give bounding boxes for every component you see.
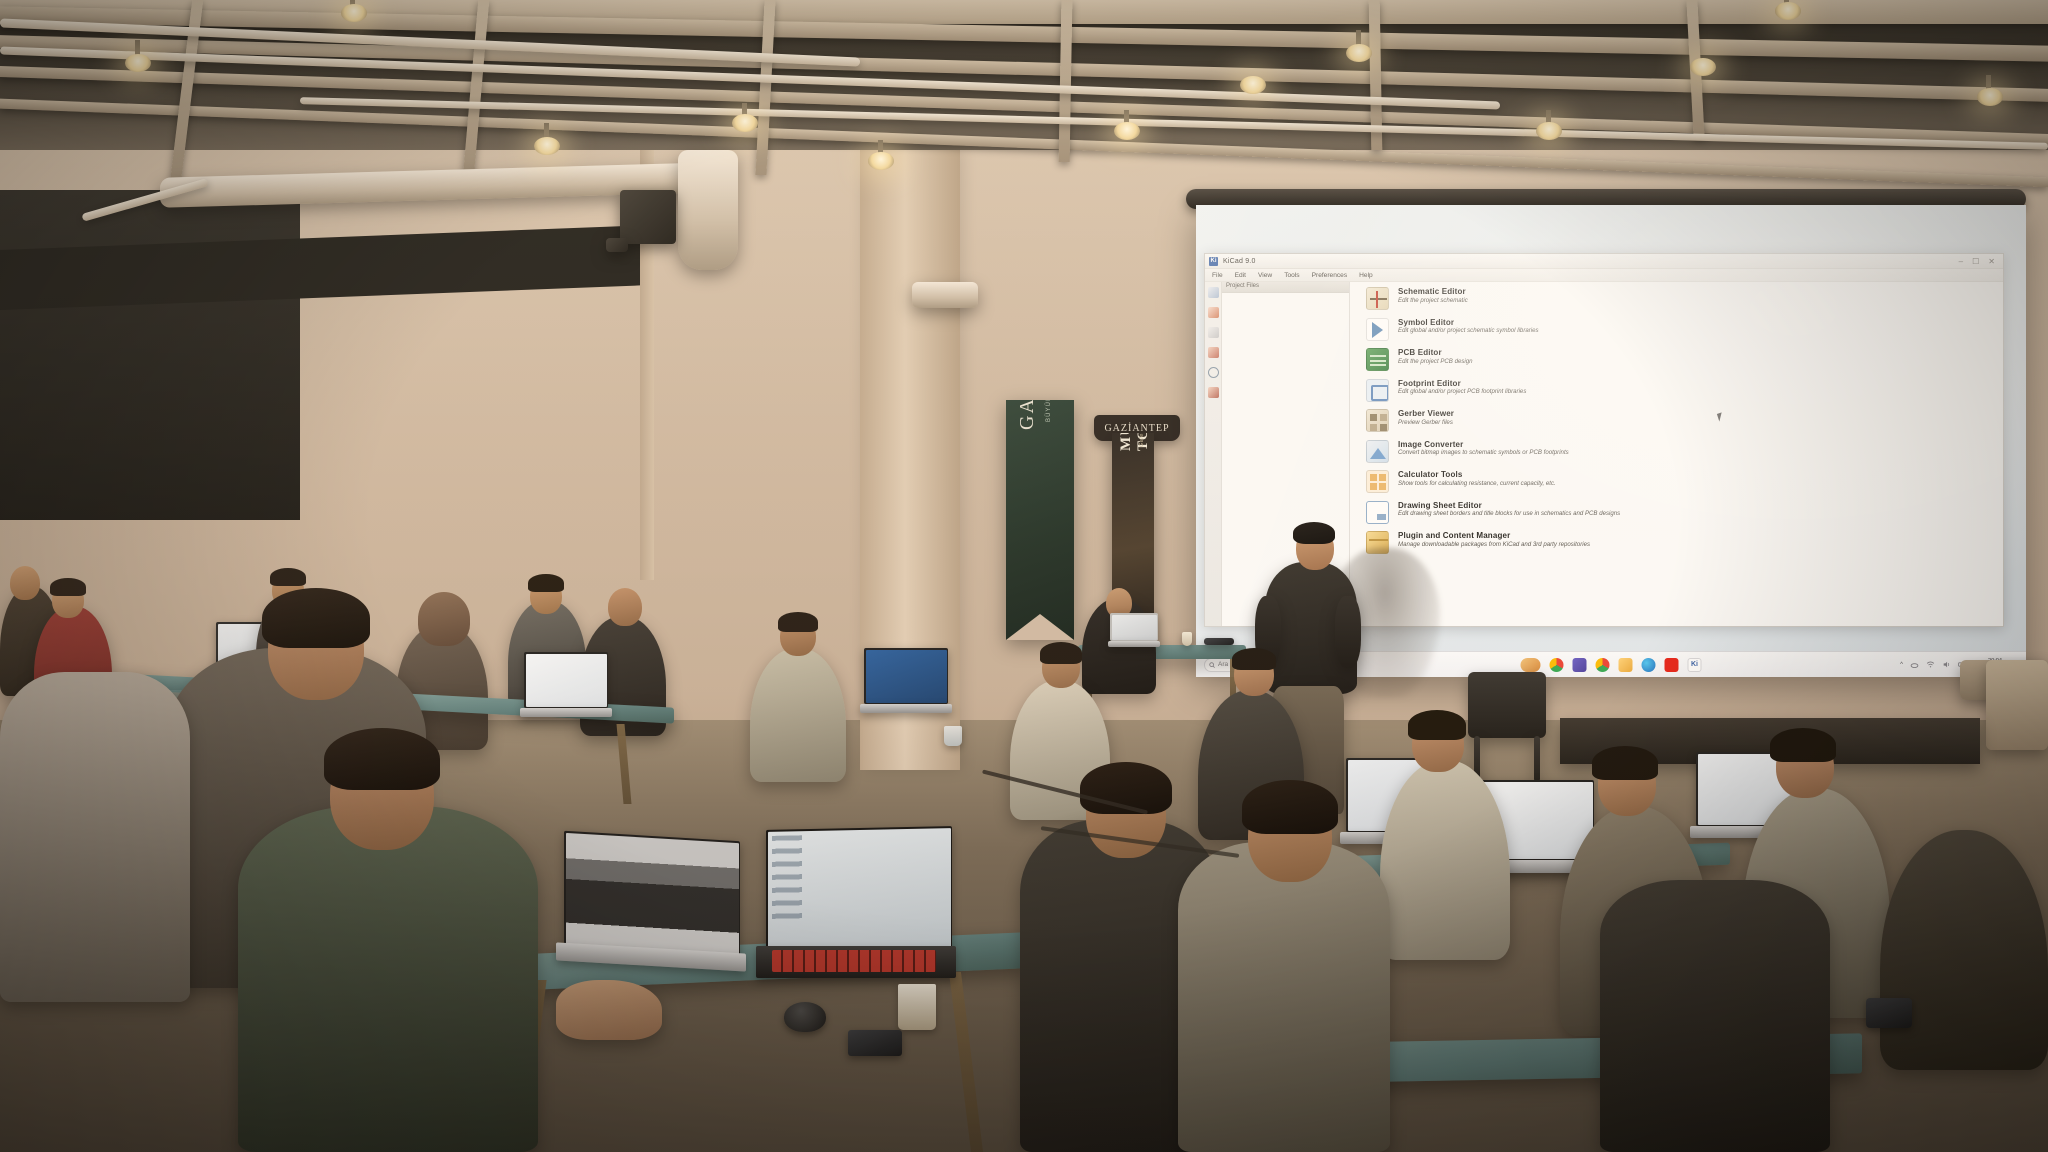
search-placeholder: Ara <box>1218 661 1228 668</box>
launcher-desc: Edit drawing sheet borders and title blo… <box>1398 511 1620 517</box>
pcb-editor-icon <box>1366 348 1389 371</box>
launcher-item-schematic-editor[interactable]: Schematic Editor Edit the project schema… <box>1366 287 2003 310</box>
foreground-laptop-msi <box>756 828 956 988</box>
search-icon <box>1209 662 1215 668</box>
audience-laptop <box>520 652 612 720</box>
banner-gaziantep-title: GAZİANTEP <box>1016 400 1039 430</box>
wifi-icon[interactable] <box>1926 660 1935 669</box>
drawing-sheet-editor-icon <box>1366 501 1389 524</box>
launcher-item-calculator-tools[interactable]: Calculator Tools Show tools for calculat… <box>1366 470 2003 493</box>
wall-speaker-mount <box>606 238 628 252</box>
kicad-titlebar: Ki KiCad 9.0 – ☐ ✕ <box>1205 254 2003 269</box>
water-glass <box>944 726 962 746</box>
ceiling-spotlight <box>1977 88 2003 106</box>
maximize-icon[interactable]: ☐ <box>1972 257 1979 266</box>
keyboard-backlight-red <box>772 950 936 972</box>
laptop-screen <box>866 650 947 703</box>
launcher-desc: Convert bitmap images to schematic symbo… <box>1398 450 1569 456</box>
presenter-arm-right <box>1335 596 1361 668</box>
foreground-attendee-hair <box>324 728 440 790</box>
banner-muhendislik-subtitle: Geleceği Birlikte Tasarlıyoruz <box>1139 433 1145 447</box>
launcher-desc: Manage downloadable packages from KiCad … <box>1398 542 1590 548</box>
chrome-icon[interactable] <box>1550 658 1564 672</box>
ceiling-spotlight <box>534 137 560 155</box>
launcher-title: Image Converter <box>1398 441 1569 449</box>
menu-edit[interactable]: Edit <box>1235 272 1246 279</box>
onedrive-icon[interactable] <box>1910 660 1919 669</box>
launcher-desc: Edit global and/or project PCB footprint… <box>1398 389 1526 395</box>
launcher-title: Gerber Viewer <box>1398 410 1454 418</box>
launcher-title: Symbol Editor <box>1398 319 1539 327</box>
menu-view[interactable]: View <box>1258 272 1272 279</box>
chevron-up-icon[interactable]: ^ <box>1900 662 1903 668</box>
foreground-attendee-hair <box>262 588 370 648</box>
presenter-hair <box>1293 522 1335 544</box>
ceiling-spotlight <box>1346 44 1372 62</box>
ceiling-spotlight <box>1536 122 1562 140</box>
youtube-icon[interactable] <box>1665 658 1679 672</box>
close-icon[interactable]: ✕ <box>1988 257 1995 266</box>
attendee-hair <box>1040 642 1082 664</box>
minimize-icon[interactable]: – <box>1959 257 1963 266</box>
attendee-head <box>608 588 642 626</box>
ceiling-spotlight <box>1775 2 1801 20</box>
menu-file[interactable]: File <box>1212 272 1223 279</box>
ceiling-duct-elbow <box>678 150 738 270</box>
kicad-menubar[interactable]: File Edit View Tools Preferences Help <box>1205 269 2003 282</box>
ceiling-spotlight <box>1690 58 1716 76</box>
launcher-desc: Show tools for calculating resistance, c… <box>1398 481 1556 487</box>
host-laptop-screen <box>1112 615 1157 640</box>
laptop-screen-bw-photo <box>566 832 739 957</box>
edge-icon[interactable] <box>1642 658 1656 672</box>
host-laptop-base <box>1108 641 1160 647</box>
foreground-attendee <box>1178 842 1390 1152</box>
teams-icon[interactable] <box>1573 658 1587 672</box>
file-explorer-icon[interactable] <box>1619 658 1633 672</box>
front-desk-item <box>1204 638 1234 645</box>
launcher-desc: Edit the project PCB design <box>1398 359 1473 365</box>
wall-speaker <box>620 190 676 244</box>
launcher-item-symbol-editor[interactable]: Symbol Editor Edit global and/or project… <box>1366 318 2003 341</box>
banner-muhendislik-title: MÜHENDİSLİK TOPLULUĞU <box>1118 433 1152 451</box>
attendee-head <box>10 566 40 600</box>
foreground-attendee <box>1600 880 1830 1152</box>
side-cabinet <box>1986 660 2048 750</box>
attendee-hair <box>528 574 564 592</box>
laptop-lid <box>564 831 740 959</box>
foreground-hand <box>556 980 662 1040</box>
attendee-hair <box>1770 728 1836 762</box>
ceiling-duct-outlet <box>912 282 978 308</box>
audience-laptop <box>860 648 952 718</box>
ceiling-spotlight <box>1114 122 1140 140</box>
attendee-hair <box>270 568 306 586</box>
archive-icon[interactable] <box>1208 347 1219 358</box>
volume-icon[interactable] <box>1942 660 1951 669</box>
launcher-item-drawing-sheet-editor[interactable]: Drawing Sheet Editor Edit drawing sheet … <box>1366 501 2003 524</box>
launcher-item-footprint-editor[interactable]: Footprint Editor Edit global and/or proj… <box>1366 379 2003 402</box>
foreground-attendee <box>238 806 538 1152</box>
foreground-mouse <box>784 1002 826 1032</box>
launcher-title: PCB Editor <box>1398 349 1473 357</box>
kicad-left-toolbar[interactable] <box>1205 282 1222 626</box>
launcher-title: Plugin and Content Manager <box>1398 532 1590 540</box>
laptop-lid <box>524 652 608 708</box>
laptop-base <box>860 704 952 713</box>
ceiling-spotlight <box>1240 76 1266 94</box>
menu-tools[interactable]: Tools <box>1284 272 1299 279</box>
foreground-phone <box>848 1030 902 1056</box>
footprint-editor-icon <box>1366 379 1389 402</box>
symbol-editor-icon <box>1366 318 1389 341</box>
laptop-lid <box>864 648 948 704</box>
laptop-lid <box>766 826 952 952</box>
launcher-title: Schematic Editor <box>1398 288 1468 296</box>
launcher-desc: Edit the project schematic <box>1398 298 1468 304</box>
project-files-header: Project Files <box>1222 282 1349 293</box>
desktop-icon-column <box>772 835 802 922</box>
image-converter-icon <box>1366 440 1389 463</box>
launcher-item-image-converter[interactable]: Image Converter Convert bitmap images to… <box>1366 440 2003 463</box>
foreground-attendee-left <box>0 672 190 1002</box>
launcher-item-pcb-editor[interactable]: PCB Editor Edit the project PCB design <box>1366 348 2003 371</box>
host-laptop <box>1108 613 1160 651</box>
kicad-window-title: KiCad 9.0 <box>1223 258 1256 265</box>
host-laptop-lid <box>1110 613 1158 641</box>
ceiling-spotlight <box>341 4 367 22</box>
attendee-hair <box>1232 648 1276 670</box>
menu-preferences[interactable]: Preferences <box>1312 272 1348 279</box>
laptop-screen-desktop <box>768 828 951 951</box>
ceiling-spotlight <box>732 114 758 132</box>
kicad-icon[interactable]: Ki <box>1688 658 1702 672</box>
banner-gaziantep: GAZİANTEP BÜYÜKŞEHİR BELEDİYESİ <box>1006 400 1074 640</box>
schematic-editor-icon <box>1366 287 1389 310</box>
launcher-desc: Preview Gerber files <box>1398 420 1454 426</box>
launcher-title: Calculator Tools <box>1398 471 1556 479</box>
launcher-title: Footprint Editor <box>1398 380 1526 388</box>
foreground-laptop-photo <box>556 836 746 980</box>
kicad-logo-icon: Ki <box>1209 257 1218 266</box>
laptop-base <box>520 708 612 717</box>
laptop-screen <box>526 654 607 707</box>
launcher-title: Drawing Sheet Editor <box>1398 502 1620 510</box>
unarchive-icon[interactable] <box>1208 387 1219 398</box>
gerber-viewer-icon <box>1366 409 1389 432</box>
banner-gaziantep-subtitle: BÜYÜKŞEHİR BELEDİYESİ <box>1046 400 1052 422</box>
ceiling-spotlight <box>868 152 894 170</box>
menu-help[interactable]: Help <box>1359 272 1373 279</box>
open-project-icon[interactable] <box>1208 307 1219 318</box>
photo-scene: GAZİANTEP BÜYÜKŞEHİR BELEDİYESİ GAZİANTE… <box>0 0 2048 1152</box>
ceiling-spotlight <box>125 54 151 72</box>
foreground-coffee-cup <box>898 984 936 1030</box>
taskbar-apps[interactable]: Ki <box>1521 658 1702 672</box>
foreground-attendee-hair <box>1242 780 1338 834</box>
attendee-hair <box>1592 746 1658 780</box>
launcher-desc: Edit global and/or project schematic sym… <box>1398 328 1539 334</box>
attendee-hair <box>1408 710 1466 740</box>
attendee-head <box>418 592 470 646</box>
attendee-hair <box>50 578 86 596</box>
front-desk-cup <box>1182 632 1192 646</box>
kicad-launcher-list[interactable]: Schematic Editor Edit the project schema… <box>1350 282 2003 626</box>
chrome-alt-icon[interactable] <box>1596 658 1610 672</box>
new-project-icon[interactable] <box>1208 287 1219 298</box>
save-icon[interactable] <box>1208 327 1219 338</box>
stacked-chair <box>1468 672 1546 738</box>
refresh-icon[interactable] <box>1208 367 1219 378</box>
stacked-chair-leg <box>1534 736 1540 782</box>
smartphone-on-table <box>1866 998 1912 1028</box>
launcher-item-gerber-viewer[interactable]: Gerber Viewer Preview Gerber files <box>1366 409 2003 432</box>
window-controls[interactable]: – ☐ ✕ <box>1959 257 2003 266</box>
attendee-hair <box>778 612 818 632</box>
start-icon[interactable] <box>1521 658 1541 672</box>
launcher-item-plugin-content-manager[interactable]: Plugin and Content Manager Manage downlo… <box>1366 531 2003 554</box>
calculator-tools-icon <box>1366 470 1389 493</box>
